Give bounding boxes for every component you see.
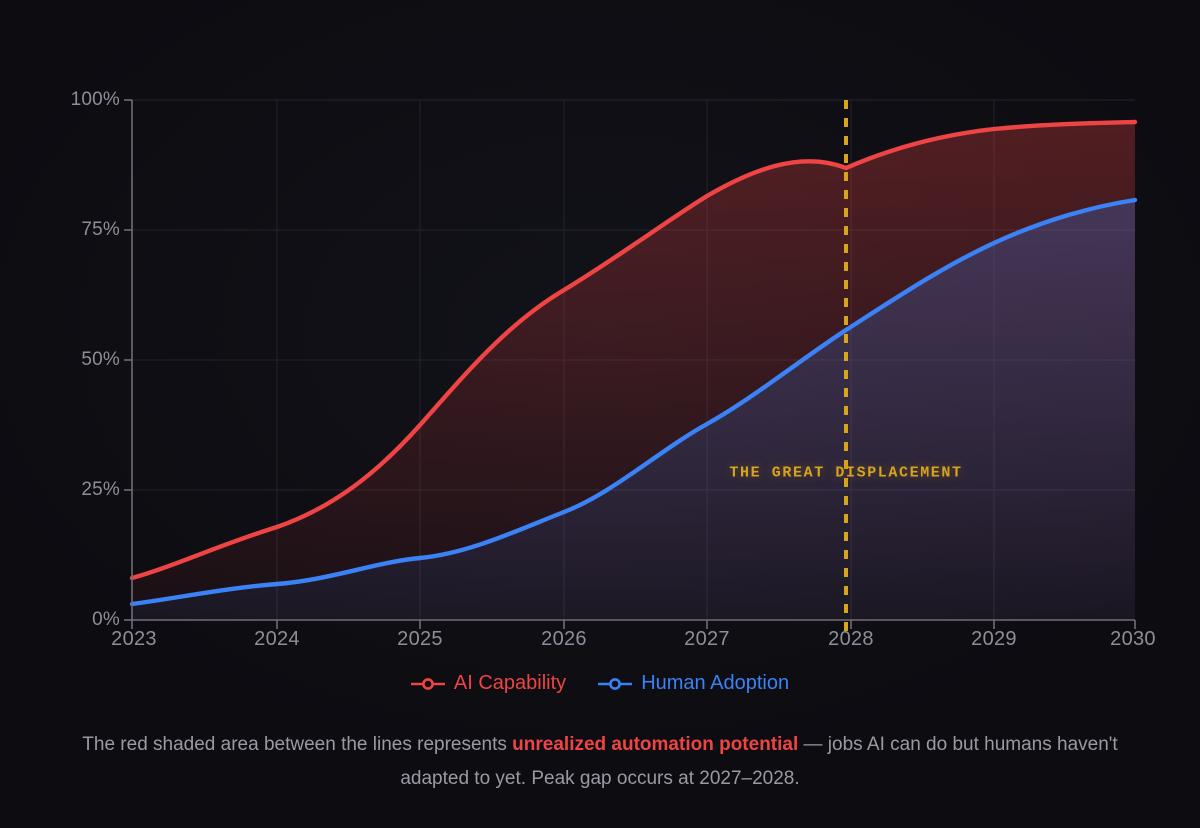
legend-marker-icon-human-adoption: [598, 676, 632, 692]
x-tick-label-2026: 2026: [541, 628, 587, 651]
y-tick-label-25: 25%: [81, 479, 120, 501]
x-tick-label-2028: 2028: [828, 628, 874, 651]
legend-label-human-adoption: Human Adoption: [641, 672, 789, 695]
y-axis-tick-labels: 100% 75% 50% 25% 0%: [0, 0, 120, 660]
chart-caption: The red shaded area between the lines re…: [70, 728, 1130, 796]
y-axis-ticks: [124, 100, 132, 620]
chart-page: 100% 75% 50% 25% 0% 2023 2024 2025 2026 …: [0, 0, 1200, 828]
x-tick-label-2024: 2024: [254, 628, 300, 651]
annotation-label-great-displacement: THE GREAT DISPLACEMENT: [729, 465, 962, 482]
chart-plot-svg: [0, 0, 1200, 660]
chart-legend: AI Capability Human Adoption: [0, 672, 1200, 695]
caption-accent-text: unrealized automation potential: [512, 734, 798, 755]
y-tick-label-75: 75%: [81, 219, 120, 241]
legend-item-human-adoption[interactable]: Human Adoption: [598, 672, 789, 695]
x-tick-label-2029: 2029: [971, 628, 1017, 651]
legend-label-ai-capability: AI Capability: [454, 672, 566, 695]
caption-line1-prefix: The red shaded area between the lines re…: [82, 734, 512, 755]
legend-item-ai-capability[interactable]: AI Capability: [411, 672, 566, 695]
x-tick-label-2025: 2025: [397, 628, 443, 651]
legend-marker-icon-ai-capability: [411, 676, 445, 692]
y-tick-label-100: 100%: [71, 89, 120, 111]
caption-line1-suffix: — jobs AI can do but: [798, 734, 979, 755]
y-tick-label-50: 50%: [81, 349, 120, 371]
x-tick-label-2023: 2023: [111, 628, 157, 651]
x-tick-label-2027: 2027: [684, 628, 730, 651]
x-tick-label-2030: 2030: [1110, 628, 1156, 651]
chart-canvas: 100% 75% 50% 25% 0% 2023 2024 2025 2026 …: [0, 0, 1200, 660]
